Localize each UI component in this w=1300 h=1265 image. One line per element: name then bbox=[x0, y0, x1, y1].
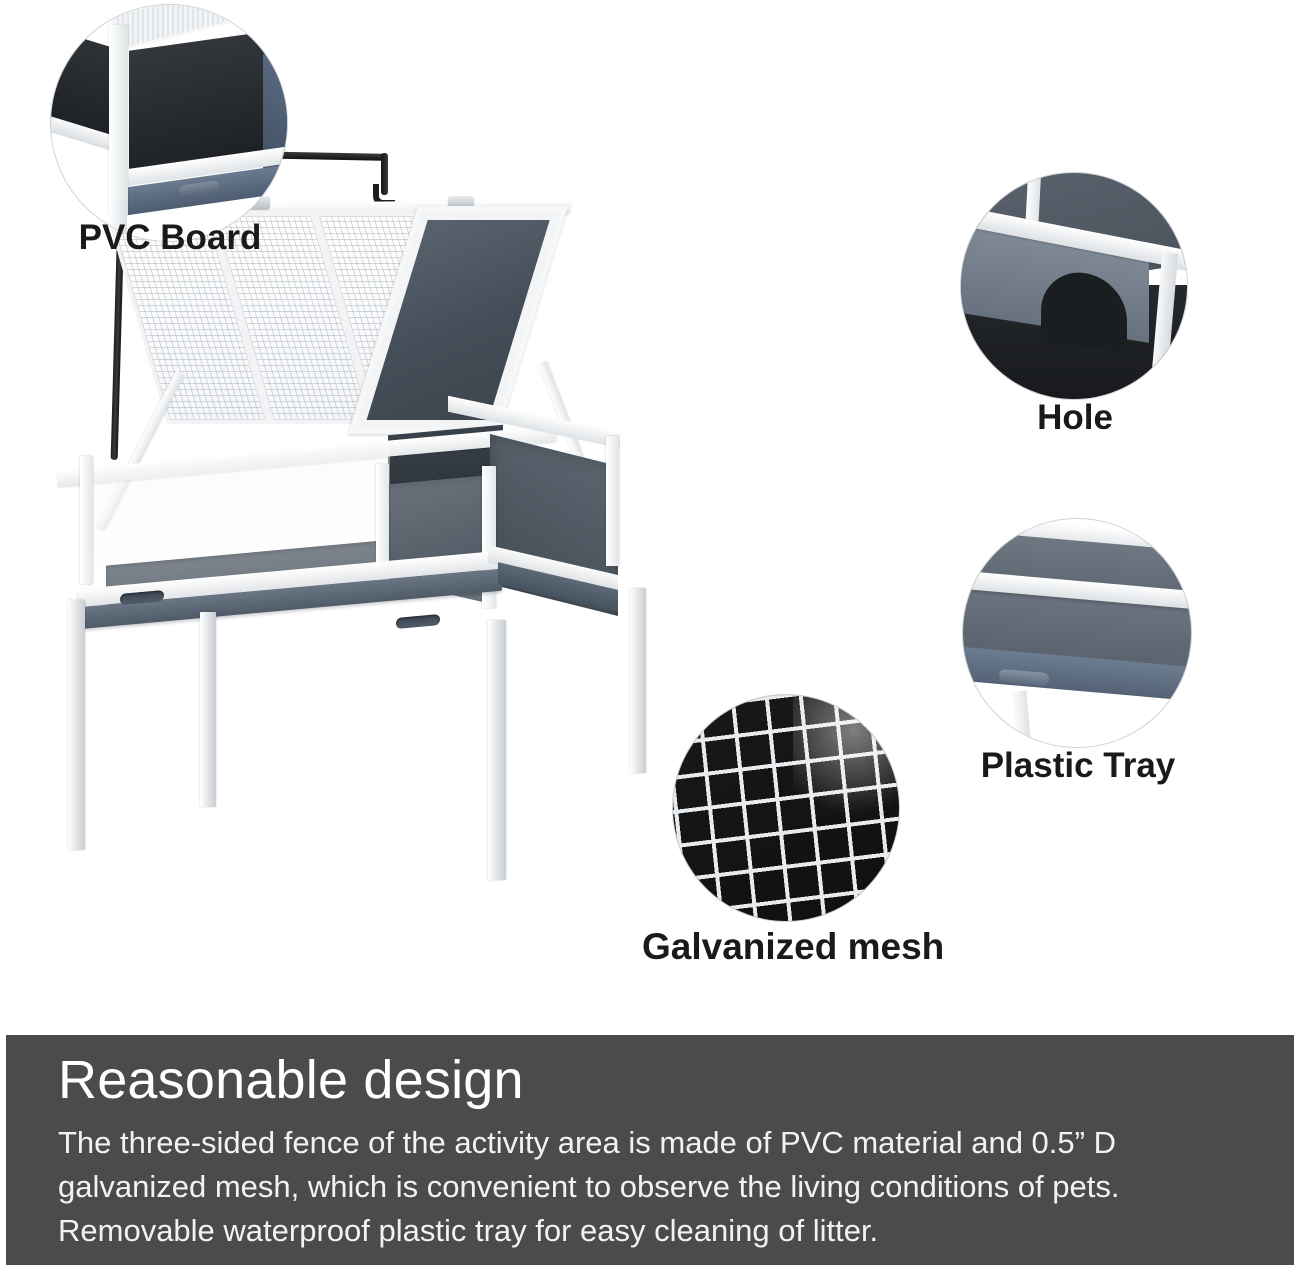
description-banner: Reasonable design The three-sided fence … bbox=[6, 1035, 1294, 1265]
callout-pvc-board-label: PVC Board bbox=[52, 218, 288, 258]
mesh-highlight-gloss bbox=[793, 694, 900, 835]
infographic-stage: PVC Board Hole Plastic Tray bbox=[0, 0, 1300, 1265]
body-post-front-left bbox=[80, 456, 93, 584]
stand-leg-front-right bbox=[488, 620, 506, 880]
callout-pvc-board-image bbox=[50, 4, 288, 242]
tray-support-leg bbox=[1010, 690, 1031, 748]
callout-hole-image bbox=[960, 172, 1188, 400]
callout-galvanized-mesh-image bbox=[672, 694, 900, 922]
banner-body-text: The three-sided fence of the activity ar… bbox=[58, 1121, 1238, 1253]
hutch-body bbox=[58, 420, 618, 660]
callout-plastic-tray-label: Plastic Tray bbox=[948, 746, 1208, 786]
banner-heading: Reasonable design bbox=[58, 1053, 524, 1107]
stand-leg-back-right bbox=[630, 588, 646, 773]
pvc-board-corner-post bbox=[109, 25, 128, 215]
callout-galvanized-mesh-label: Galvanized mesh bbox=[642, 926, 932, 968]
callout-plastic-tray-image bbox=[962, 518, 1192, 748]
stand-leg-back-left bbox=[200, 612, 216, 807]
body-post-back-right bbox=[606, 436, 619, 566]
stand-leg-front-left bbox=[68, 600, 85, 850]
tray-handle-slot bbox=[396, 614, 440, 629]
callout-hole-label: Hole bbox=[962, 398, 1188, 438]
